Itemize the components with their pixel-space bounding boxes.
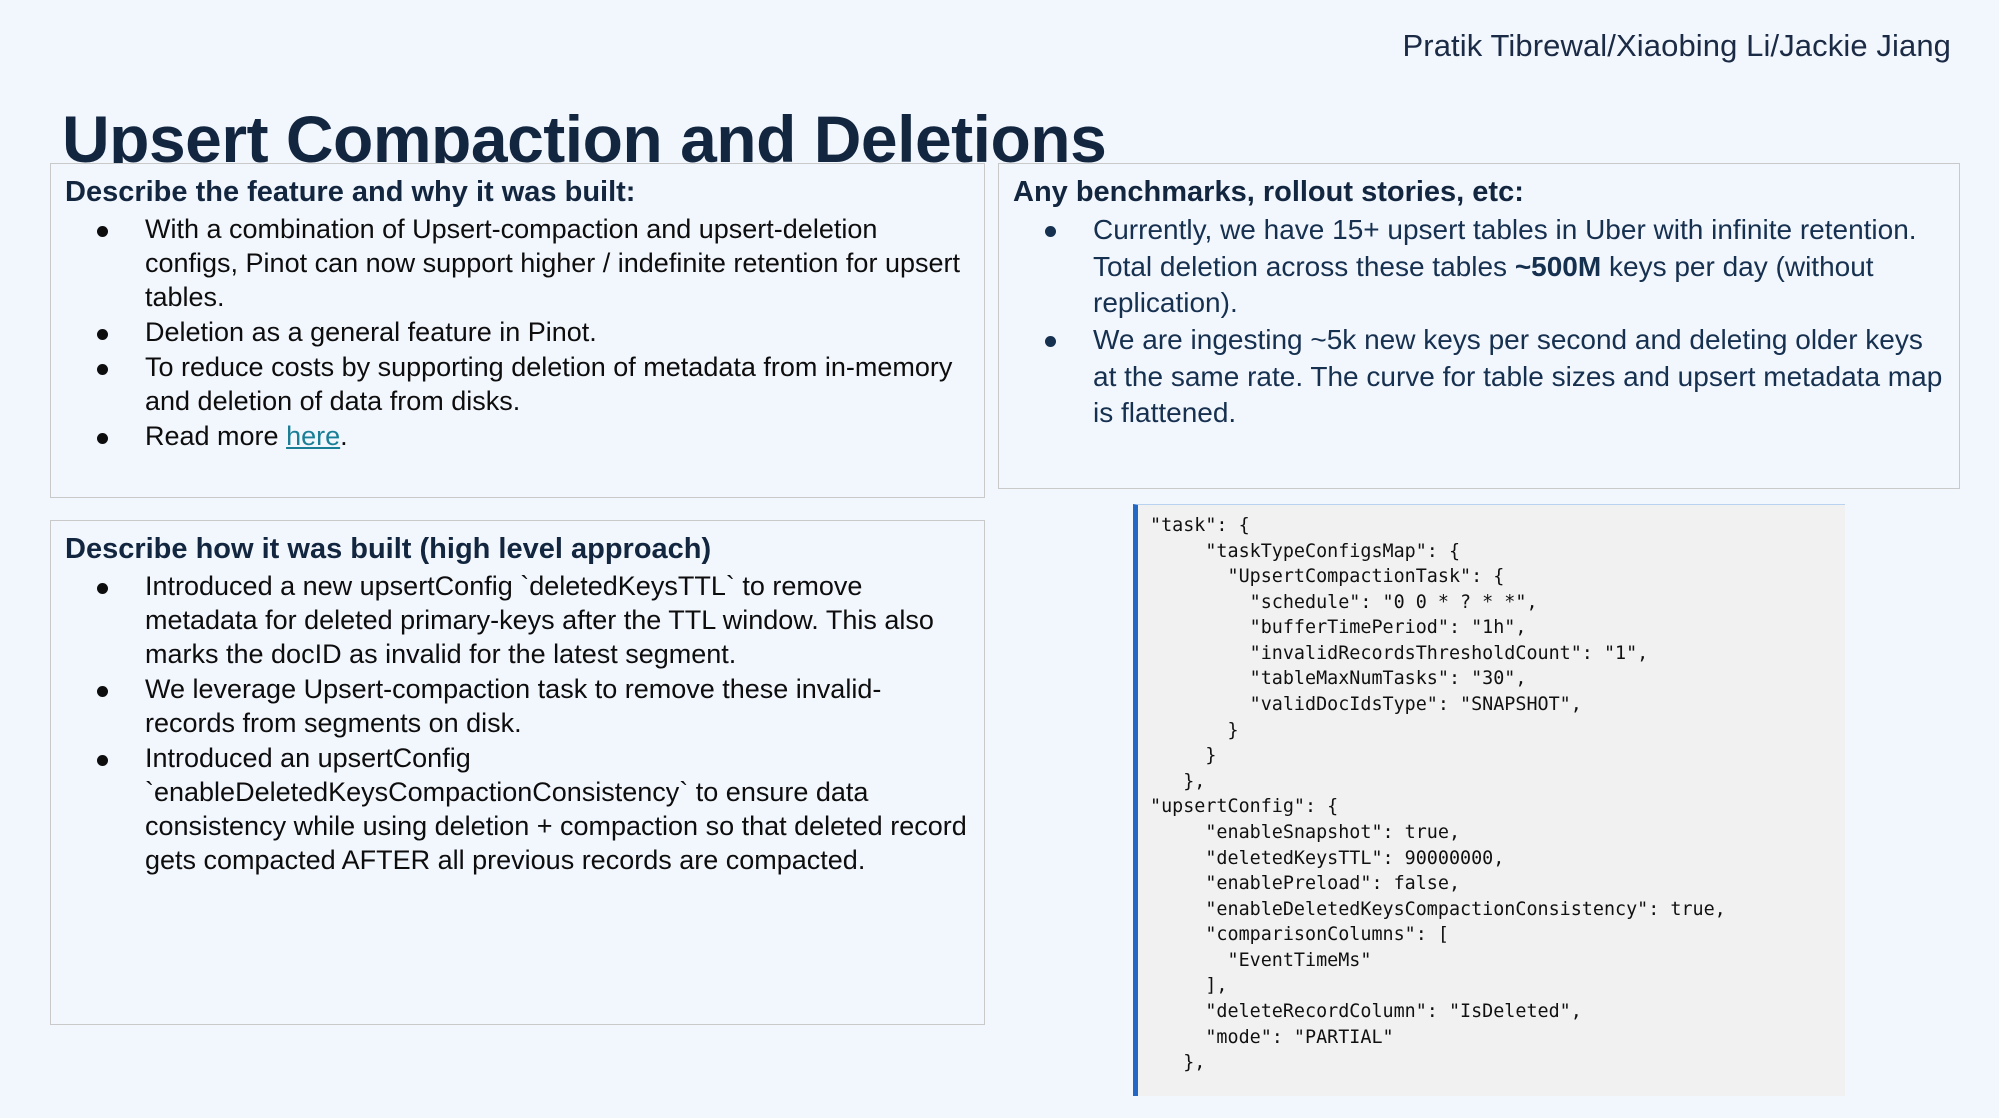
panel-benchmarks-title: Any benchmarks, rollout stories, etc:: [1013, 174, 1945, 210]
list-item: Currently, we have 15+ upsert tables in …: [1013, 212, 1945, 321]
list-item: Deletion as a general feature in Pinot.: [65, 315, 970, 349]
code-content: "task": { "taskTypeConfigsMap": { "Upser…: [1150, 513, 1845, 1076]
read-more-link[interactable]: here: [286, 421, 340, 451]
panel-benchmarks: Any benchmarks, rollout stories, etc: Cu…: [998, 163, 1960, 489]
list-item: Read more here.: [65, 419, 970, 453]
panel-approach-title: Describe how it was built (high level ap…: [65, 531, 970, 567]
benchmark-keys-count: ~500M: [1515, 251, 1601, 282]
panel-approach-bullet-list: Introduced a new upsertConfig `deletedKe…: [65, 569, 970, 877]
read-more-suffix: .: [340, 421, 348, 451]
authors-line: Pratik Tibrewal/Xiaobing Li/Jackie Jiang: [1403, 28, 1952, 64]
read-more-text: Read more: [145, 421, 286, 451]
panel-benchmarks-bullet-list: Currently, we have 15+ upsert tables in …: [1013, 212, 1945, 431]
json-config-code-block: "task": { "taskTypeConfigsMap": { "Upser…: [1133, 504, 1845, 1096]
panel-describe-approach: Describe how it was built (high level ap…: [50, 520, 985, 1025]
list-item: We are ingesting ~5k new keys per second…: [1013, 322, 1945, 431]
list-item: To reduce costs by supporting deletion o…: [65, 350, 970, 418]
list-item: We leverage Upsert-compaction task to re…: [65, 672, 970, 740]
list-item: Introduced an upsertConfig `enableDelete…: [65, 741, 970, 877]
panel-feature-bullet-list: With a combination of Upsert-compaction …: [65, 212, 970, 453]
list-item: With a combination of Upsert-compaction …: [65, 212, 970, 314]
panel-describe-feature: Describe the feature and why it was buil…: [50, 163, 985, 498]
panel-feature-title: Describe the feature and why it was buil…: [65, 174, 970, 210]
list-item: Introduced a new upsertConfig `deletedKe…: [65, 569, 970, 671]
